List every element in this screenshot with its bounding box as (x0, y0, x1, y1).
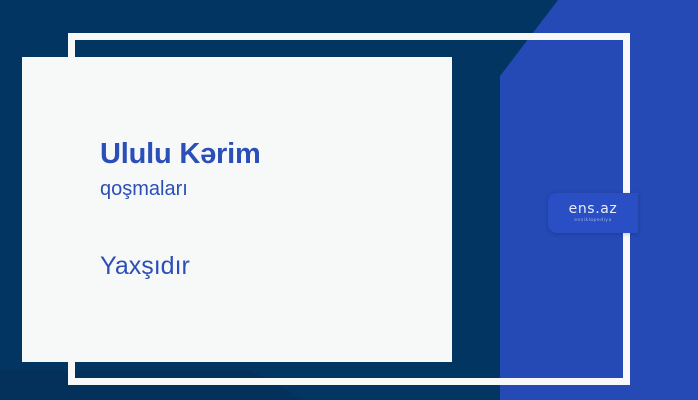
page-subtitle: qoşmaları (100, 177, 452, 201)
content-card-text-block: Ululu Kərim qoşmaları Yaxşıdır (100, 57, 452, 362)
poem-title: Yaxşıdır (100, 251, 452, 281)
slide-canvas: Ululu Kərim qoşmaları Yaxşıdır ens.az en… (0, 0, 698, 400)
logo-tagline: ensiklopediya (574, 219, 611, 224)
page-title: Ululu Kərim (100, 138, 452, 170)
ens-az-logo-badge[interactable]: ens.az ensiklopediya (548, 193, 638, 233)
logo-wordmark: ens.az (569, 202, 618, 216)
content-card: Ululu Kərim qoşmaları Yaxşıdır (22, 57, 452, 362)
